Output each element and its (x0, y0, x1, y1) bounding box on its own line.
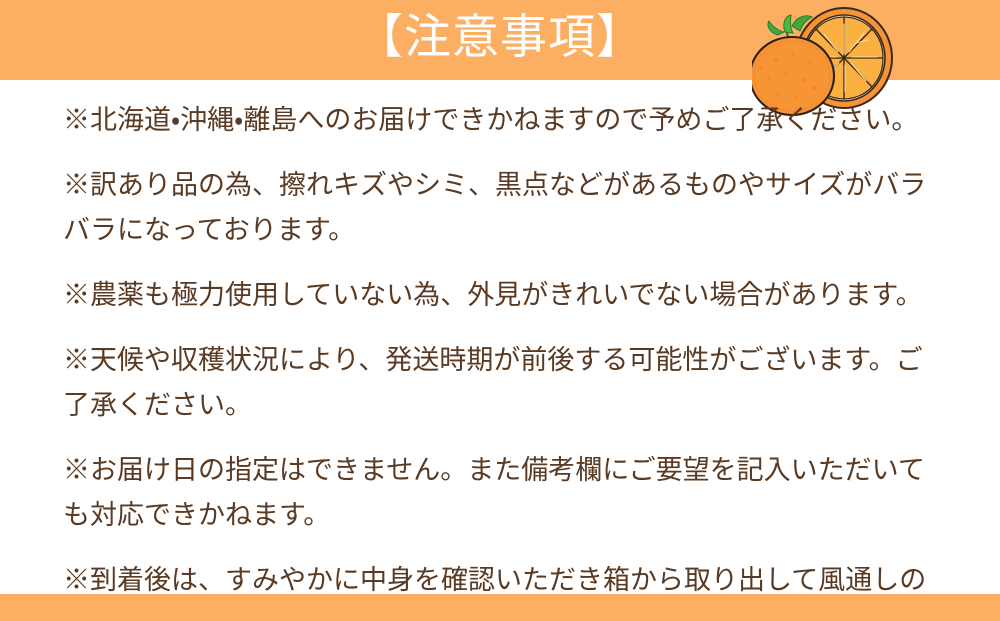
notice-page: 【注意事項】 (0, 0, 1000, 621)
notice-item: ※農薬も極力使用していない為、外見がきれいでない場合があります。 (63, 273, 939, 318)
notice-item: ※訳あり品の為、擦れキズやシミ、黒点などがあるものやサイズがバラバラになっており… (63, 163, 939, 253)
notice-list: ※北海道・沖縄・離島へのお届けできかねますので予めご了承ください。 ※訳あり品の… (63, 98, 939, 621)
notice-item: ※お届け日の指定はできません。また備考欄にご要望を記入いただいても対応できかねま… (63, 448, 939, 538)
notice-item: ※天候や収穫状況により、発送時期が前後する可能性がございます。ご了承ください。 (63, 338, 939, 428)
footer-band (0, 594, 1000, 621)
notice-item: ※北海道・沖縄・離島へのお届けできかねますので予めご了承ください。 (63, 98, 939, 143)
